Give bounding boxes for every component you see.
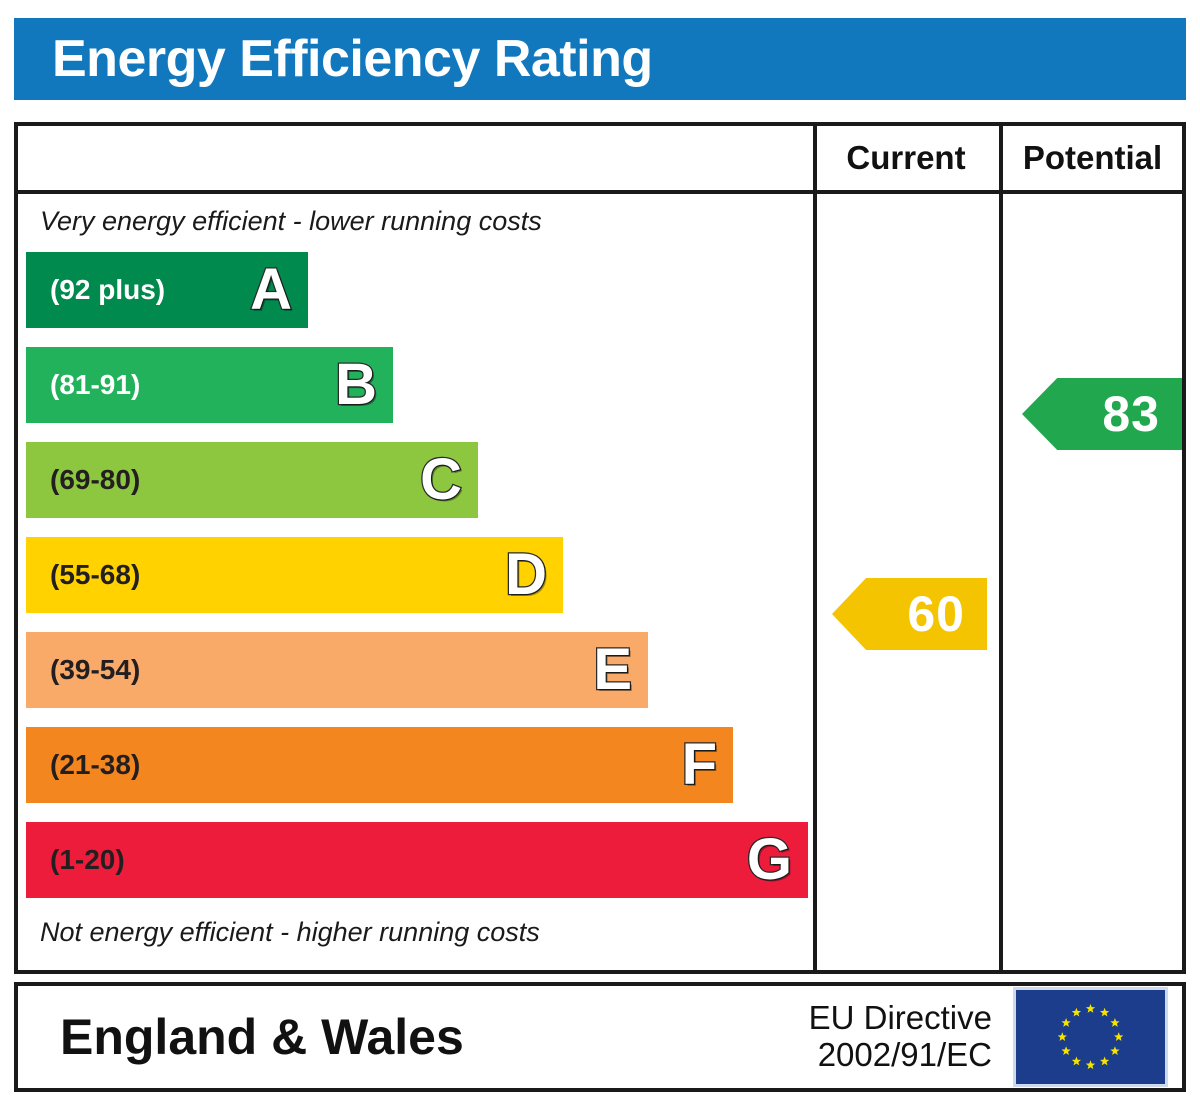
directive-line-2: 2002/91/EC — [809, 1037, 992, 1074]
bands-area: Very energy efficient - lower running co… — [18, 194, 813, 970]
column-header-row: Current Potential — [18, 126, 1182, 194]
current-rating-value: 60 — [907, 585, 965, 643]
potential-rating-value: 83 — [1102, 385, 1160, 443]
band-letter-g: G — [747, 831, 792, 889]
band-row-d: (55-68)D — [26, 537, 563, 613]
column-divider-current — [813, 126, 817, 970]
band-letter-a: A — [250, 261, 292, 319]
caption-very-efficient: Very energy efficient - lower running co… — [40, 206, 542, 237]
band-letter-d: D — [505, 546, 547, 604]
current-rating-arrow: 60 — [832, 578, 987, 650]
band-letter-e: E — [593, 641, 632, 699]
energy-efficiency-rating-chart: Energy Efficiency Rating Current Potenti… — [0, 0, 1200, 1108]
column-header-potential: Potential — [1003, 126, 1182, 190]
band-range-e: (39-54) — [50, 656, 140, 684]
band-row-c: (69-80)C — [26, 442, 478, 518]
band-range-b: (81-91) — [50, 371, 140, 399]
band-row-f: (21-38)F — [26, 727, 733, 803]
title-bar: Energy Efficiency Rating — [14, 18, 1186, 100]
column-header-current: Current — [813, 126, 999, 190]
band-letter-b: B — [335, 356, 377, 414]
column-divider-potential — [999, 126, 1003, 970]
band-range-f: (21-38) — [50, 751, 140, 779]
chart-frame: Current Potential Very energy efficient … — [14, 122, 1186, 974]
band-row-e: (39-54)E — [26, 632, 648, 708]
footer-region-label: England & Wales — [60, 1008, 464, 1066]
footer-bar: England & Wales EU Directive 2002/91/EC — [14, 982, 1186, 1092]
band-letter-c: C — [420, 451, 462, 509]
eu-flag-icon — [1013, 987, 1168, 1087]
band-range-a: (92 plus) — [50, 276, 165, 304]
page-title: Energy Efficiency Rating — [52, 29, 653, 89]
band-range-g: (1-20) — [50, 846, 125, 874]
directive-line-1: EU Directive — [809, 1000, 992, 1037]
band-row-g: (1-20)G — [26, 822, 808, 898]
band-letter-f: F — [682, 736, 717, 794]
caption-not-efficient: Not energy efficient - higher running co… — [40, 917, 540, 948]
band-range-d: (55-68) — [50, 561, 140, 589]
footer-directive-label: EU Directive 2002/91/EC — [809, 1000, 992, 1074]
band-row-b: (81-91)B — [26, 347, 393, 423]
band-range-c: (69-80) — [50, 466, 140, 494]
band-row-a: (92 plus)A — [26, 252, 308, 328]
potential-rating-arrow: 83 — [1022, 378, 1182, 450]
